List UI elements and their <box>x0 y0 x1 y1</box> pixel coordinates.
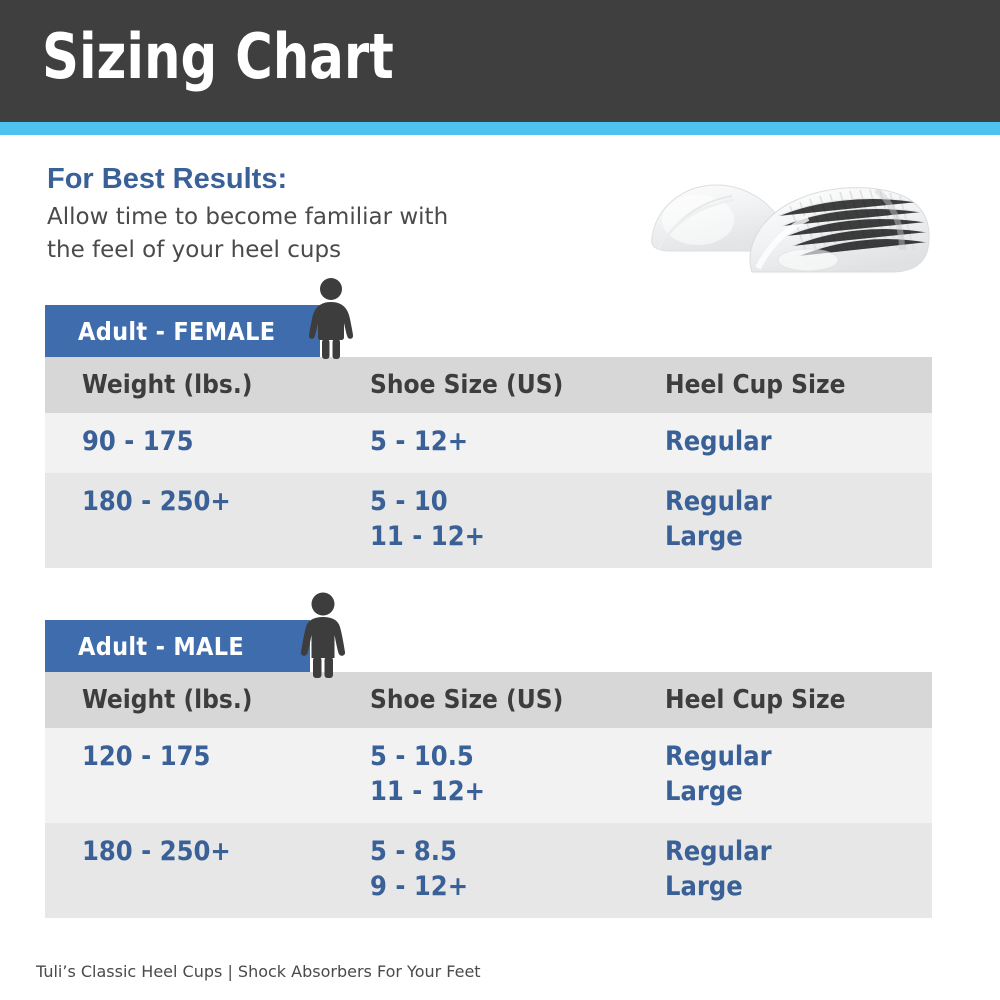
cup-size-value: Large <box>665 774 932 809</box>
female-col-weight: Weight (lbs.) <box>45 357 333 413</box>
male-row1-shoe-sizes: 5 - 8.5 9 - 12+ <box>333 823 628 918</box>
intro-heading: For Best Results: <box>47 160 607 198</box>
female-row1-weight: 180 - 250+ <box>45 473 333 568</box>
male-row0-shoe-sizes: 5 - 10.5 11 - 12+ <box>333 728 628 823</box>
male-col-heel-cup-size: Heel Cup Size <box>628 672 932 728</box>
male-col-shoe-size: Shoe Size (US) <box>333 672 628 728</box>
male-figure-icon <box>293 592 353 683</box>
male-col-weight: Weight (lbs.) <box>45 672 333 728</box>
female-figure-icon <box>303 277 359 364</box>
male-row1-weight: 180 - 250+ <box>45 823 333 918</box>
table-row: 120 - 175 5 - 10.5 11 - 12+ Regular Larg… <box>45 728 932 823</box>
shoe-size-value: 5 - 8.5 <box>370 834 628 869</box>
female-banner-label: Adult - FEMALE <box>78 317 275 346</box>
shoe-size-value: 11 - 12+ <box>370 774 628 809</box>
heel-cup-ribbed <box>750 188 929 272</box>
male-banner-label: Adult - MALE <box>78 632 244 661</box>
accent-bar <box>0 122 1000 135</box>
heel-cup-product-image <box>640 162 970 287</box>
cup-size-value: Large <box>665 869 932 904</box>
female-row1-shoe-sizes: 5 - 10 11 - 12+ <box>333 473 628 568</box>
female-table-header-row: Weight (lbs.) Shoe Size (US) Heel Cup Si… <box>45 357 932 413</box>
cup-size-value: Regular <box>665 424 932 459</box>
male-row1-cup-sizes: Regular Large <box>628 823 932 918</box>
cup-size-value: Regular <box>665 484 932 519</box>
shoe-size-value: 5 - 12+ <box>370 424 628 459</box>
shoe-size-value: 5 - 10 <box>370 484 628 519</box>
cup-size-value: Large <box>665 519 932 554</box>
shoe-size-value: 9 - 12+ <box>370 869 628 904</box>
female-col-shoe-size: Shoe Size (US) <box>333 357 628 413</box>
female-sizing-table: Weight (lbs.) Shoe Size (US) Heel Cup Si… <box>45 357 932 568</box>
male-sizing-table: Weight (lbs.) Shoe Size (US) Heel Cup Si… <box>45 672 932 918</box>
table-row: 180 - 250+ 5 - 8.5 9 - 12+ Regular Large <box>45 823 932 918</box>
cup-size-value: Regular <box>665 739 932 774</box>
footer-text: Tuli’s Classic Heel Cups | Shock Absorbe… <box>36 962 481 981</box>
intro-line-1: Allow time to become familiar with <box>47 201 607 234</box>
male-row0-cup-sizes: Regular Large <box>628 728 932 823</box>
female-row1-cup-sizes: Regular Large <box>628 473 932 568</box>
page-title: Sizing Chart <box>42 16 394 98</box>
intro-block: For Best Results: Allow time to become f… <box>47 160 607 267</box>
male-row0-weight: 120 - 175 <box>45 728 333 823</box>
female-row0-weight: 90 - 175 <box>45 413 333 473</box>
table-row: 90 - 175 5 - 12+ Regular <box>45 413 932 473</box>
female-banner: Adult - FEMALE <box>45 305 320 357</box>
cup-size-value: Regular <box>665 834 932 869</box>
female-sizing-section: Adult - FEMALE Weight (lbs.) Shoe Size (… <box>45 305 932 568</box>
table-row: 180 - 250+ 5 - 10 11 - 12+ Regular Large <box>45 473 932 568</box>
male-banner: Adult - MALE <box>45 620 310 672</box>
page-header-bar: Sizing Chart <box>0 0 1000 122</box>
male-table-header-row: Weight (lbs.) Shoe Size (US) Heel Cup Si… <box>45 672 932 728</box>
intro-line-2: the feel of your heel cups <box>47 234 607 267</box>
female-col-heel-cup-size: Heel Cup Size <box>628 357 932 413</box>
shoe-size-value: 5 - 10.5 <box>370 739 628 774</box>
female-row0-cup-sizes: Regular <box>628 413 932 473</box>
shoe-size-value: 11 - 12+ <box>370 519 628 554</box>
female-row0-shoe-sizes: 5 - 12+ <box>333 413 628 473</box>
male-sizing-section: Adult - MALE Weight (lbs.) Shoe Size (US… <box>45 620 932 918</box>
